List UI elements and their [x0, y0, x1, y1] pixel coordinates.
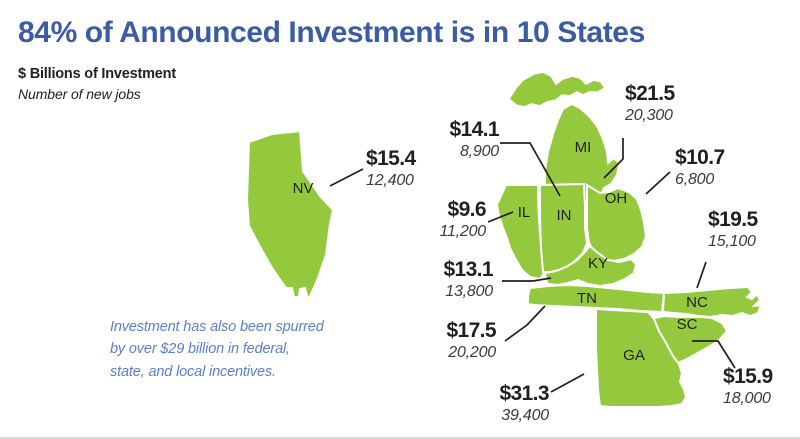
callout-in: $14.1 8,900 — [414, 119, 499, 161]
leader-line-nv — [330, 169, 363, 186]
callout-oh: $10.7 6,800 — [675, 147, 725, 189]
callout-tn-amount: $17.5 — [418, 320, 496, 341]
state-shape-nc[interactable] — [663, 287, 761, 317]
state-label-tn: TN — [577, 290, 597, 307]
callout-il: $9.6 11,200 — [420, 199, 486, 241]
leader-line-ga — [551, 374, 584, 392]
state-label-oh: OH — [605, 190, 628, 207]
leader-line-nc — [697, 262, 706, 288]
callout-tn: $17.5 20,200 — [418, 320, 496, 362]
callout-mi-amount: $21.5 — [625, 83, 675, 104]
state-shape-il[interactable] — [497, 185, 545, 279]
state-label-in: IN — [557, 207, 572, 224]
callout-ky: $13.1 13,800 — [415, 259, 493, 301]
state-label-nc: NC — [686, 294, 708, 311]
callout-sc-jobs: 18,000 — [723, 390, 773, 408]
callout-ky-amount: $13.1 — [415, 259, 493, 280]
callout-ky-jobs: 13,800 — [415, 283, 493, 301]
callout-il-amount: $9.6 — [420, 199, 486, 220]
infographic-root: 84% of Announced Investment is in 10 Sta… — [0, 0, 800, 439]
callout-ga-amount: $31.3 — [463, 383, 549, 404]
state-label-il: IL — [518, 204, 531, 221]
state-label-nv: NV — [293, 180, 314, 197]
leader-line-tn — [505, 306, 545, 341]
callout-sc-amount: $15.9 — [723, 366, 773, 387]
state-label-mi: MI — [575, 139, 592, 156]
callout-nc: $19.5 15,100 — [708, 209, 758, 251]
state-shape-nv[interactable] — [247, 131, 333, 300]
state-label-ga: GA — [623, 347, 645, 364]
callout-oh-jobs: 6,800 — [675, 171, 725, 189]
callout-oh-amount: $10.7 — [675, 147, 725, 168]
leader-line-oh — [646, 172, 670, 194]
callout-il-jobs: 11,200 — [420, 223, 486, 241]
state-label-sc: SC — [677, 316, 698, 333]
callout-nv-jobs: 12,400 — [366, 172, 416, 190]
callout-mi: $21.5 20,300 — [625, 83, 675, 125]
callout-nv-amount: $15.4 — [366, 148, 416, 169]
state-label-ky: KY — [588, 255, 608, 272]
us-states-map: NV MI IL IN OH KY — [0, 0, 800, 439]
state-shape-mi-upper[interactable] — [509, 72, 605, 107]
callout-sc: $15.9 18,000 — [723, 366, 773, 408]
callout-nc-amount: $19.5 — [708, 209, 758, 230]
callout-mi-jobs: 20,300 — [625, 107, 675, 125]
callout-ga-jobs: 39,400 — [463, 407, 549, 425]
leader-line-ky — [502, 278, 551, 281]
callout-nc-jobs: 15,100 — [708, 233, 758, 251]
callout-nv: $15.4 12,400 — [366, 148, 416, 190]
callout-tn-jobs: 20,200 — [418, 344, 496, 362]
callout-in-jobs: 8,900 — [414, 143, 499, 161]
callout-ga: $31.3 39,400 — [463, 383, 549, 425]
callout-in-amount: $14.1 — [414, 119, 499, 140]
